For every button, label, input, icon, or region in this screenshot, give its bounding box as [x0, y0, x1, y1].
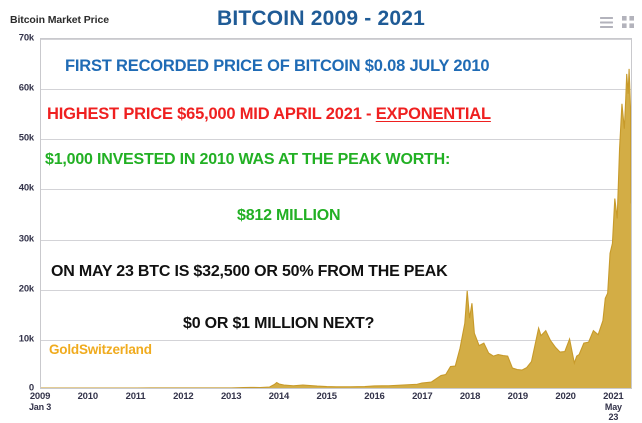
annotation-emphasis: EXPONENTIAL [376, 105, 491, 123]
x-axis-tick: 2012 [173, 392, 193, 402]
chart-annotation: $0 OR $1 MILLION NEXT? [183, 315, 374, 333]
header-icon-group [600, 15, 634, 33]
x-axis-tick: 2013 [221, 392, 241, 402]
x-axis-tick: 2015 [317, 392, 337, 402]
annotation-text: ON MAY 23 BTC IS $32,500 OR 50% FROM THE… [51, 263, 447, 280]
x-axis-tick: 2009Jan 3 [29, 392, 51, 412]
x-axis-tick: 2010 [78, 392, 98, 402]
x-axis-tick: 2019 [508, 392, 528, 402]
x-axis-tick: 2014 [269, 392, 289, 402]
chart-annotation: HIGHEST PRICE $65,000 MID APRIL 2021 - E… [47, 105, 491, 124]
plot-area: FIRST RECORDED PRICE OF BITCOIN $0.08 JU… [40, 38, 632, 389]
x-axis-tick: 2016 [364, 392, 384, 402]
annotation-text: $1,000 INVESTED IN 2010 WAS AT THE PEAK … [45, 151, 450, 168]
chart-screenshot: Bitcoin Market Price BITCOIN 2009 - 2021 [0, 0, 642, 423]
list-view-icon[interactable] [600, 15, 613, 33]
x-axis-tick: 2017 [412, 392, 432, 402]
watermark: GoldSwitzerland [49, 342, 152, 357]
x-axis-tick-sub: Jan 3 [29, 402, 51, 412]
annotation-text: HIGHEST PRICE $65,000 MID APRIL 2021 - [47, 105, 376, 123]
x-axis-tick: 2020 [555, 392, 575, 402]
y-axis-tick: 40k [6, 183, 34, 194]
annotation-text: $812 MILLION [237, 207, 340, 224]
x-axis-tick-sub: May 23 [599, 402, 628, 422]
chart-header: Bitcoin Market Price BITCOIN 2009 - 2021 [0, 0, 642, 36]
chart-annotation: $812 MILLION [237, 207, 340, 225]
y-axis-tick: 70k [6, 33, 34, 44]
y-axis-tick: 50k [6, 133, 34, 144]
x-axis-tick: 2018 [460, 392, 480, 402]
y-axis-tick: 10k [6, 333, 34, 344]
grid-expand-icon[interactable] [622, 15, 634, 33]
y-axis-tick: 20k [6, 283, 34, 294]
page-title: BITCOIN 2009 - 2021 [0, 7, 642, 31]
x-axis-tick: 2021May 23 [599, 392, 628, 422]
chart-annotation: $1,000 INVESTED IN 2010 WAS AT THE PEAK … [45, 151, 450, 169]
annotation-text: FIRST RECORDED PRICE OF BITCOIN $0.08 JU… [65, 57, 489, 75]
chart-annotation: FIRST RECORDED PRICE OF BITCOIN $0.08 JU… [65, 57, 489, 76]
chart-annotation: ON MAY 23 BTC IS $32,500 OR 50% FROM THE… [51, 263, 447, 281]
y-axis-tick: 60k [6, 83, 34, 94]
x-axis-tick: 2011 [126, 392, 146, 402]
y-axis-tick: 30k [6, 233, 34, 244]
annotation-text: $0 OR $1 MILLION NEXT? [183, 315, 374, 332]
